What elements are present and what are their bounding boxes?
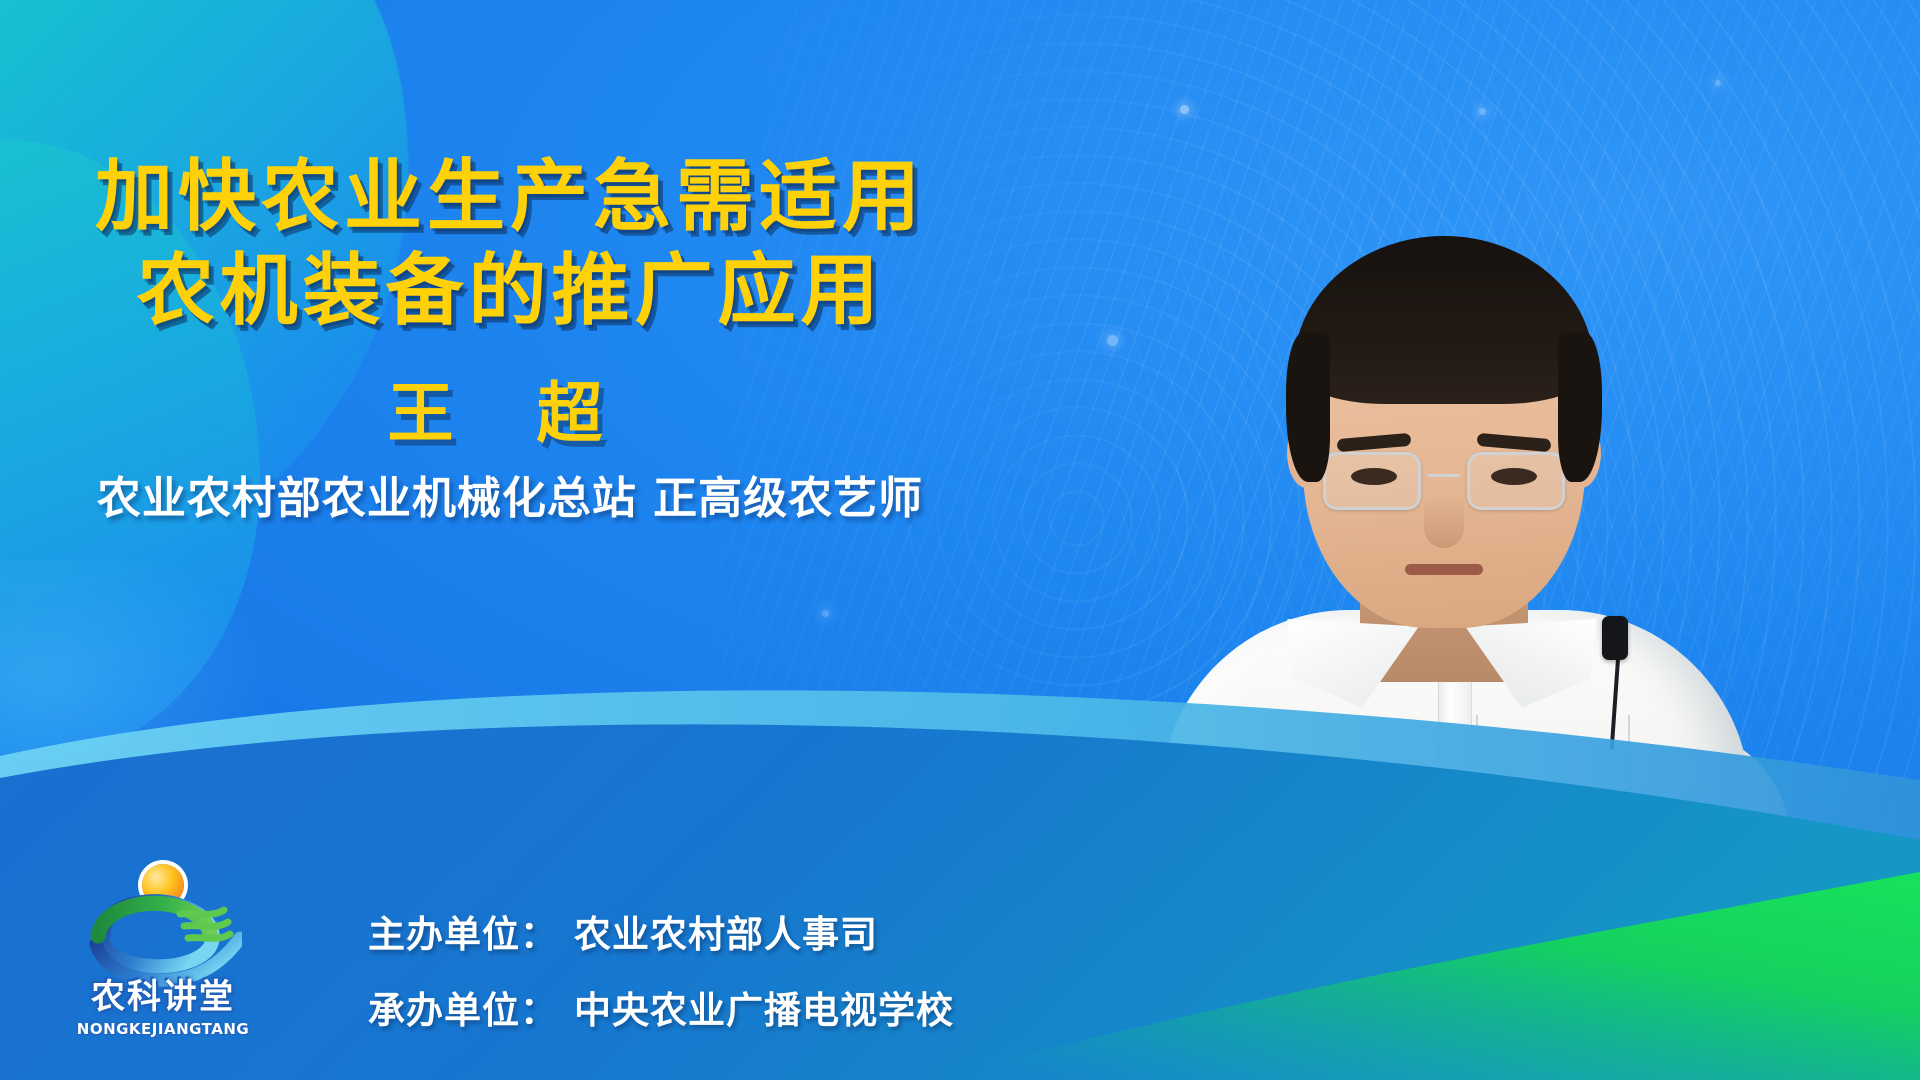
logo-pinyin: NONGKEJIANGTANG — [68, 1020, 258, 1038]
credit-label: 主办单位： — [368, 904, 558, 958]
shirt-pocket — [1476, 715, 1630, 882]
presentation-title-slide: 加快农业生产急需适用 农机装备的推广应用 王 超 农业农村部农业机械化总站 正高… — [0, 0, 1920, 1080]
presenter-photo — [1064, 140, 1824, 1080]
credit-value: 农业农村部人事司 — [574, 904, 878, 958]
speaker-affiliation: 农业农村部农业机械化总站 正高级农艺师 — [0, 462, 1020, 526]
presenter-nose — [1424, 496, 1464, 548]
shirt-button — [1449, 767, 1462, 780]
presenter-hair-side-left — [1286, 332, 1330, 482]
credit-label: 承办单位： — [368, 980, 558, 1034]
eyeglasses-bridge — [1428, 474, 1460, 477]
credit-value: 中央农业广播电视学校 — [574, 980, 954, 1034]
presenter-eyebrow-left — [1337, 433, 1412, 452]
presenter-hair-side-right — [1558, 332, 1602, 482]
presenter-mouth — [1405, 564, 1483, 575]
presenter-eye-right — [1491, 468, 1537, 485]
credit-row-host: 承办单位： 中央农业广播电视学校 — [368, 980, 954, 1034]
title-line-2: 农机装备的推广应用 — [0, 244, 1020, 338]
title-line-1: 加快农业生产急需适用 — [0, 150, 1020, 244]
lapel-microphone-icon — [1602, 616, 1628, 660]
presenter-hair — [1294, 236, 1594, 404]
credits-block: 主办单位： 农业农村部人事司 承办单位： 中央农业广播电视学校 — [368, 904, 954, 1034]
shirt-button — [1449, 987, 1462, 1000]
shirt-button — [1449, 877, 1462, 890]
shirt-placket — [1438, 660, 1472, 1080]
presenter-eyebrow-right — [1477, 433, 1552, 452]
credit-row-organizer: 主办单位： 农业农村部人事司 — [368, 904, 954, 958]
corner-glow — [0, 560, 360, 860]
organization-logo: 农科讲堂 NONGKEJIANGTANG — [68, 858, 258, 1048]
logo-name: 农科讲堂 — [68, 969, 258, 1018]
page-title: 加快农业生产急需适用 农机装备的推广应用 — [0, 150, 1020, 338]
speaker-name: 王 超 — [0, 360, 1020, 456]
presenter-eye-left — [1351, 468, 1397, 485]
